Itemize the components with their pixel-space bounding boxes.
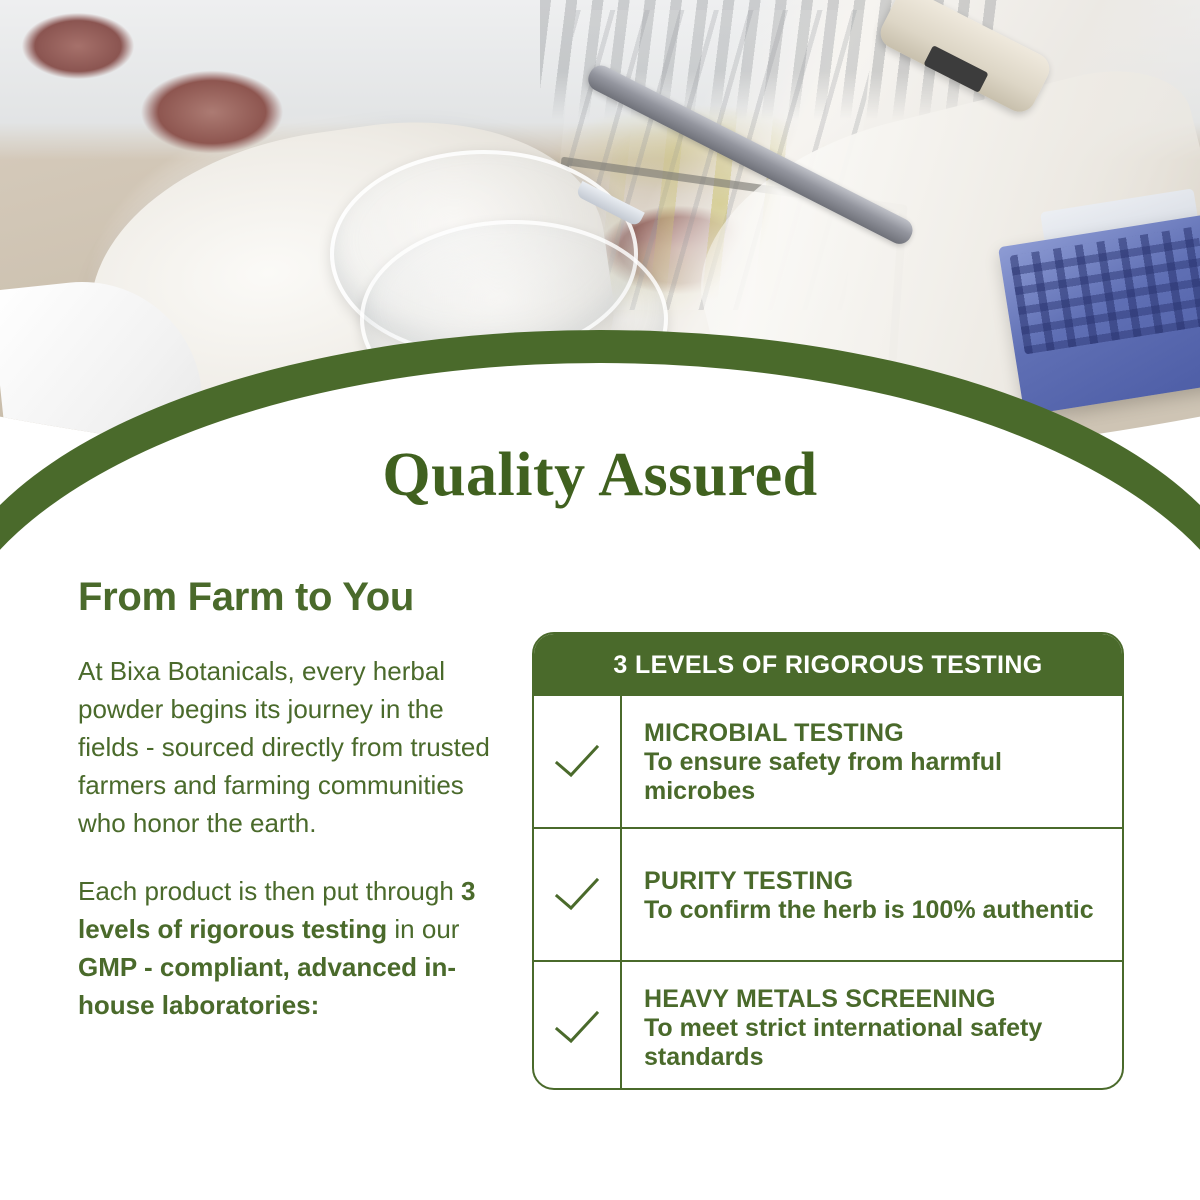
card-header-label: 3 LEVELS OF RIGOROUS TESTING xyxy=(613,651,1042,680)
row-content: MICROBIAL TESTING To ensure safety from … xyxy=(622,696,1122,827)
row-title: MICROBIAL TESTING xyxy=(644,719,1104,747)
row-description: To confirm the herb is 100% authentic xyxy=(644,896,1104,925)
row-content: HEAVY METALS SCREENING To meet strict in… xyxy=(622,962,1122,1090)
checkmark-cell xyxy=(534,829,622,960)
checkmark-icon xyxy=(553,875,601,915)
table-row: MICROBIAL TESTING To ensure safety from … xyxy=(534,696,1122,827)
testing-paragraph-part1: Each product is then put through xyxy=(78,876,461,906)
blue-tube-rack-icon xyxy=(998,215,1200,416)
table-row: HEAVY METALS SCREENING To meet strict in… xyxy=(534,960,1122,1090)
intro-paragraph: At Bixa Botanicals, every herbal powder … xyxy=(78,653,503,843)
row-title: HEAVY METALS SCREENING xyxy=(644,985,1104,1013)
checkmark-cell xyxy=(534,696,622,827)
checkmark-cell xyxy=(534,962,622,1090)
testing-rows: MICROBIAL TESTING To ensure safety from … xyxy=(534,696,1122,1090)
testing-paragraph-part2: in our xyxy=(387,914,459,944)
testing-paragraph-bold2: GMP - compliant, advanced in-house labor… xyxy=(78,952,456,1020)
page-title: Quality Assured xyxy=(0,440,1200,511)
testing-paragraph: Each product is then put through 3 level… xyxy=(78,873,503,1025)
table-row: PURITY TESTING To confirm the herb is 10… xyxy=(534,827,1122,960)
row-title: PURITY TESTING xyxy=(644,867,1104,895)
section-subheading: From Farm to You xyxy=(78,575,503,619)
card-header: 3 LEVELS OF RIGOROUS TESTING xyxy=(534,634,1122,696)
quality-assured-infographic: Quality Assured From Farm to You At Bixa… xyxy=(0,0,1200,1200)
row-content: PURITY TESTING To confirm the herb is 10… xyxy=(622,829,1122,960)
checkmark-icon xyxy=(553,742,601,782)
row-description: To meet strict international safety stan… xyxy=(644,1014,1104,1072)
testing-levels-card: 3 LEVELS OF RIGOROUS TESTING MICROBIAL T… xyxy=(532,632,1124,1090)
row-description: To ensure safety from harmful microbes xyxy=(644,748,1104,806)
left-column: From Farm to You At Bixa Botanicals, eve… xyxy=(78,575,503,1055)
checkmark-icon xyxy=(553,1008,601,1048)
